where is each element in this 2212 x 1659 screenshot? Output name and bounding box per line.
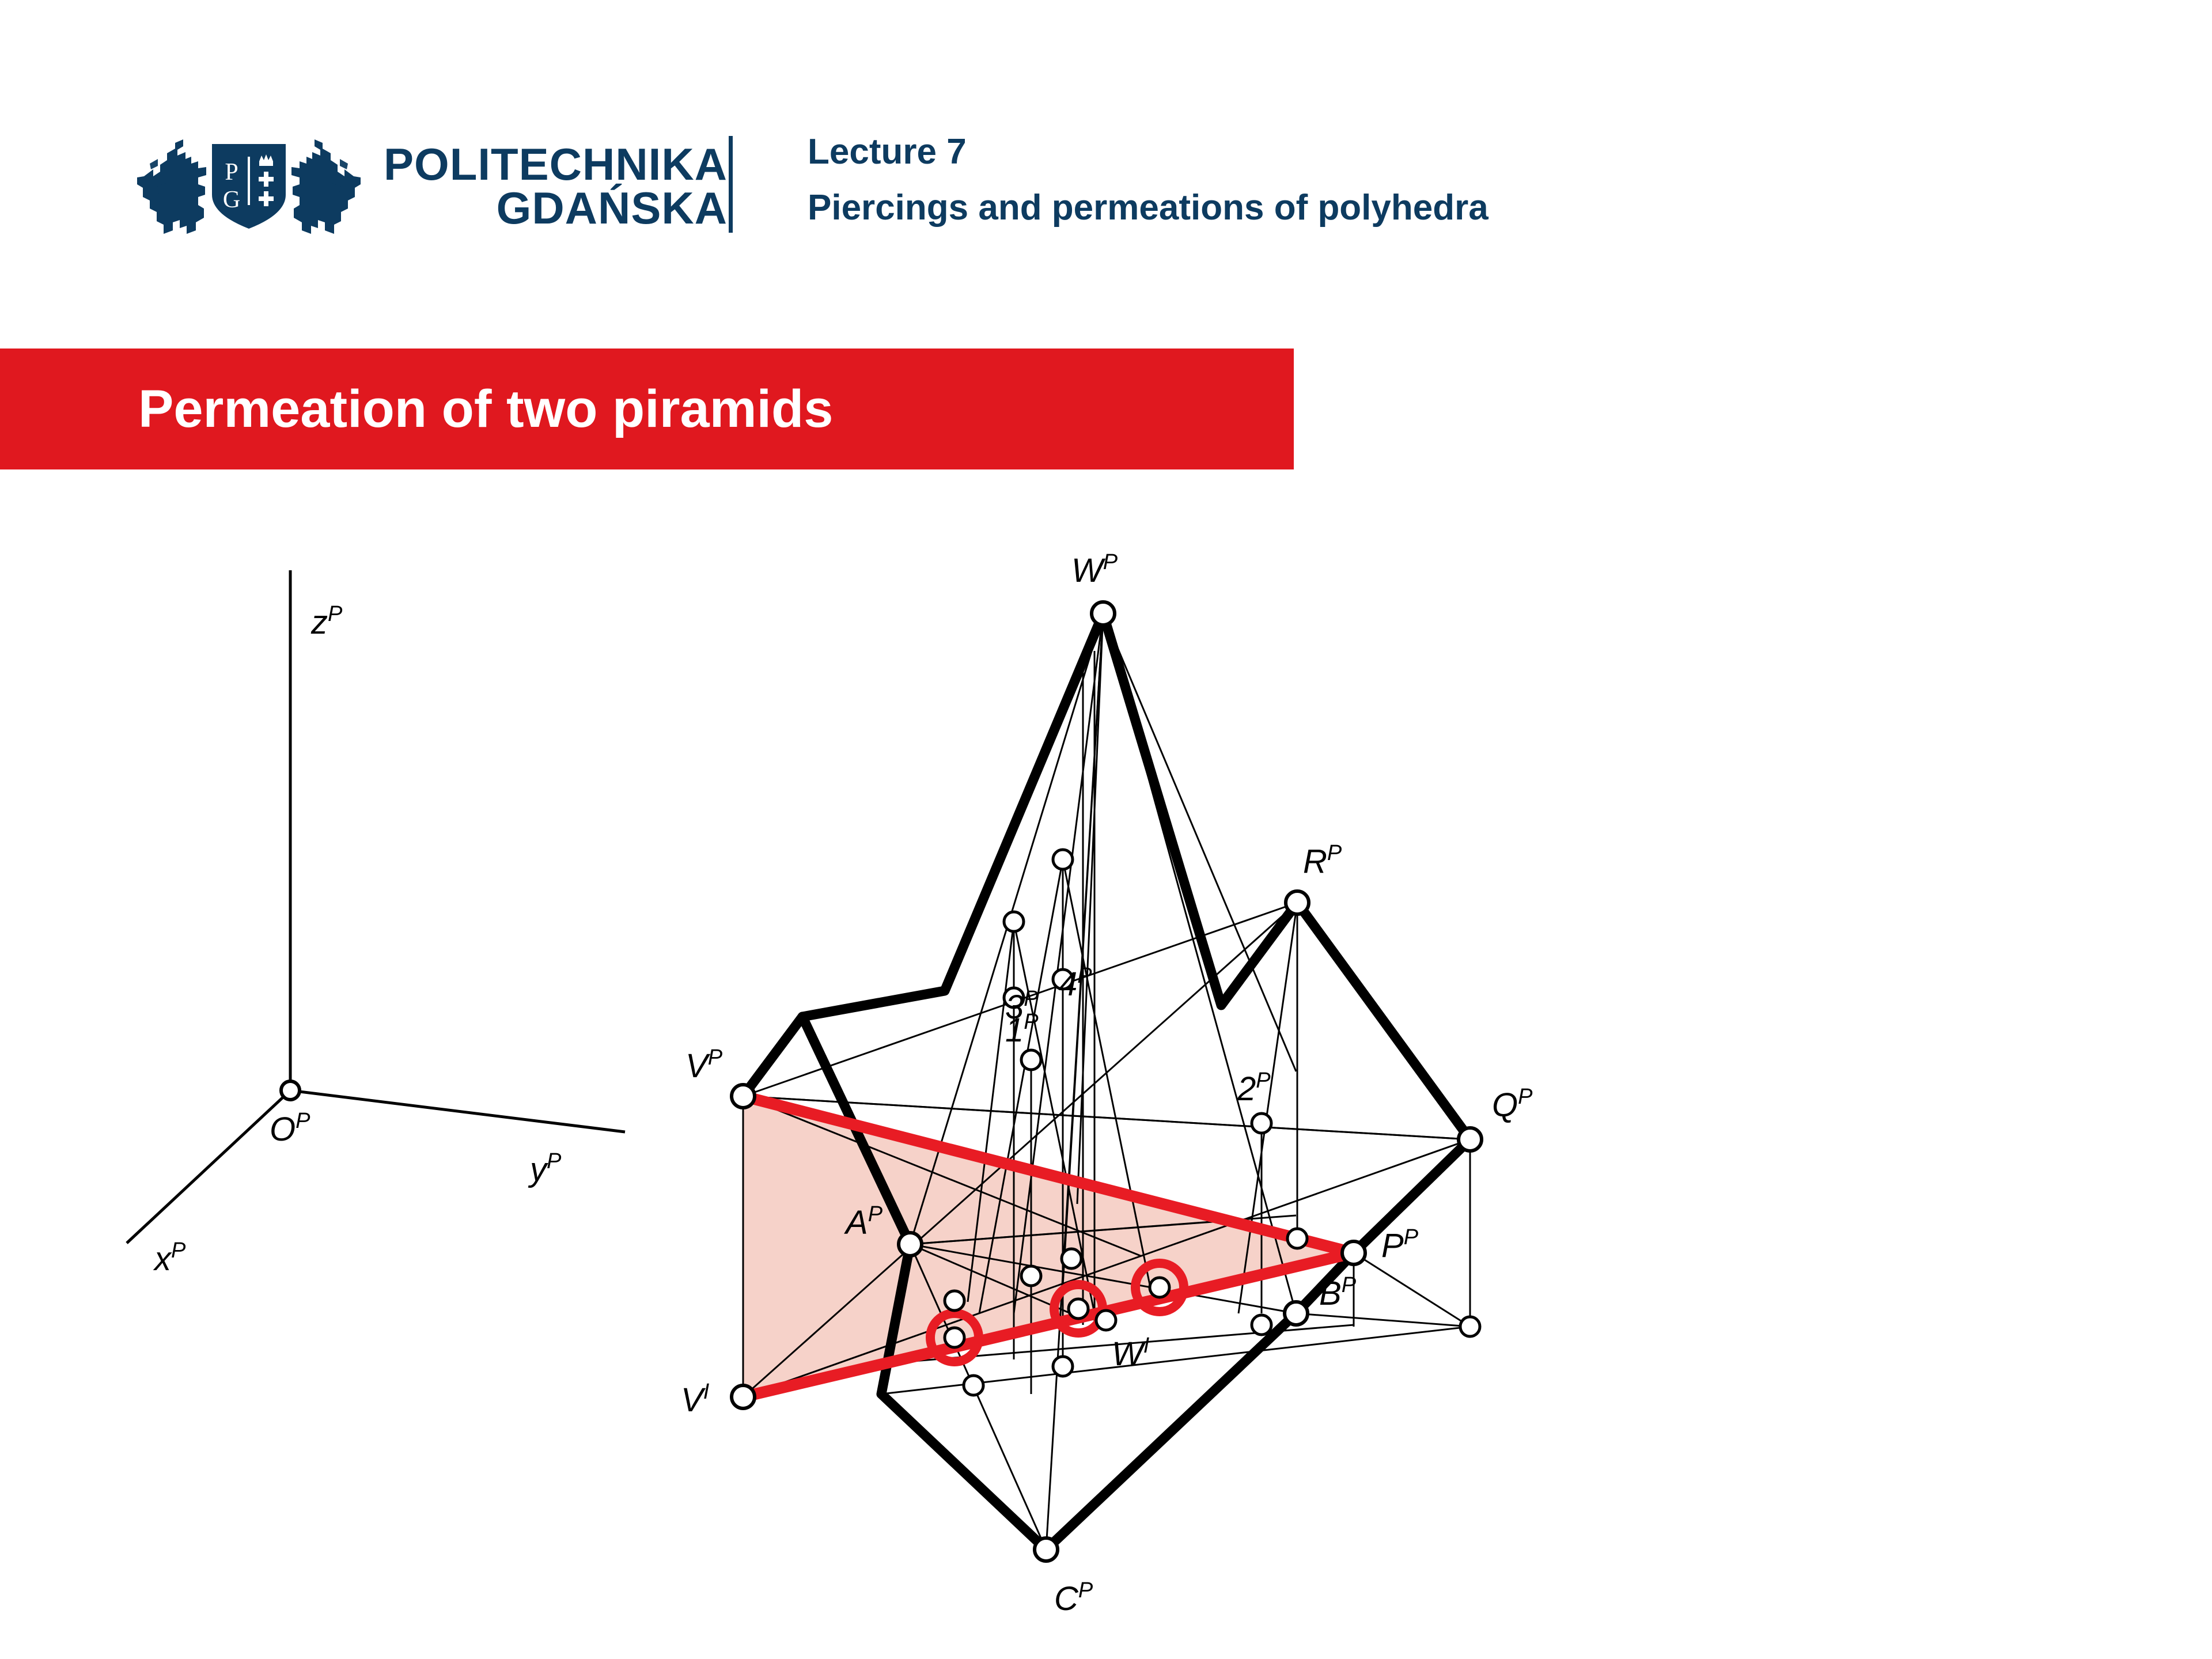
node-aux-lower-2	[1053, 1357, 1073, 1376]
w-to-centroid	[1077, 613, 1103, 1204]
svg-text:G: G	[223, 187, 240, 213]
node-B	[1285, 1302, 1308, 1325]
node-P	[1342, 1241, 1365, 1264]
node-aux-mid	[1021, 1266, 1041, 1286]
x-axis-label: xP	[153, 1238, 186, 1278]
node-piercing-1	[945, 1328, 964, 1347]
slide-title-banner: Permeation of two piramids	[0, 349, 1294, 469]
node-C	[1035, 1538, 1058, 1561]
technical-drawing: .thin { stroke:#000; stroke-width:3; fil…	[0, 495, 2212, 1659]
wordmark-line-2: GDAŃSKA	[384, 186, 728, 230]
node-Q	[1459, 1128, 1482, 1151]
label-B-vertex: BP	[1319, 1273, 1357, 1312]
node-q-base	[1460, 1317, 1480, 1336]
label-W-apex: WP	[1071, 550, 1118, 589]
y-axis-label: yP	[528, 1149, 562, 1188]
node-upper-aux-1	[1053, 850, 1073, 869]
q-base-p	[1354, 1253, 1470, 1327]
origin-node	[281, 1081, 300, 1100]
node-upper-aux-2	[1004, 912, 1024, 931]
z-axis-label: zP	[310, 602, 343, 641]
label-V-prime: VI	[681, 1380, 710, 1419]
label-R-vertex: RP	[1303, 841, 1342, 880]
outline-w-left	[743, 613, 1103, 1096]
label-W-prime: WI	[1112, 1334, 1150, 1373]
label-point-4: 4P	[1059, 964, 1092, 1003]
point-labels: WP VP VI WI AP BP CP PP QP RP 1P	[681, 550, 1533, 1618]
node-aux-mid2	[1062, 1249, 1081, 1268]
node-1	[1021, 1050, 1041, 1070]
node-A	[899, 1233, 922, 1256]
axonometric-axes: zP yP xP OP	[127, 570, 625, 1278]
origin-label: OP	[270, 1109, 310, 1148]
pyramid-outlines	[743, 613, 1470, 1550]
label-C-vertex: CP	[1054, 1578, 1093, 1618]
ray-w-right	[1103, 613, 1296, 1071]
node-aux-left	[945, 1291, 964, 1310]
vertex-nodes	[732, 602, 1482, 1561]
node-r-base	[1287, 1229, 1307, 1248]
node-2	[1252, 1113, 1271, 1133]
header-title-block: Lecture 7 Piercings and permeations of p…	[808, 134, 1488, 226]
svg-text:P: P	[225, 159, 238, 185]
node-aux-right	[1252, 1315, 1271, 1335]
node-V-prime	[732, 1385, 755, 1408]
node-piercing-3	[1150, 1278, 1169, 1297]
node-W	[1092, 602, 1115, 625]
node-aux-w-prime	[1096, 1310, 1116, 1330]
label-Q-vertex: QP	[1492, 1085, 1533, 1124]
y-axis	[290, 1090, 625, 1132]
university-logo-block: P G POLITECHNIKA GDAŃSKA	[134, 131, 728, 241]
lecture-subject: Piercings and permeations of polyhedra	[808, 190, 1488, 226]
label-point-2: 2P	[1237, 1069, 1271, 1108]
page-title: Permeation of two piramids	[138, 379, 833, 440]
outline-w-right	[1103, 613, 1297, 1005]
pg-crest-logo-icon: P G	[134, 131, 364, 241]
label-V-apex: VP	[685, 1046, 723, 1085]
university-wordmark: POLITECHNIKA GDAŃSKA	[384, 142, 728, 230]
lecture-number: Lecture 7	[808, 134, 1488, 170]
node-V	[732, 1085, 755, 1108]
node-piercing-2	[1069, 1299, 1088, 1319]
node-R	[1286, 891, 1309, 914]
header-divider	[729, 136, 733, 233]
label-P-vertex: PP	[1381, 1225, 1419, 1264]
x-axis	[127, 1090, 290, 1243]
q-base-b	[1296, 1313, 1470, 1327]
node-aux-lower-1	[964, 1376, 983, 1395]
wordmark-line-1: POLITECHNIKA	[384, 142, 728, 186]
slide-header: P G POLITECHNIKA GDAŃSKA Lecture 7 Pierc…	[0, 0, 2212, 300]
